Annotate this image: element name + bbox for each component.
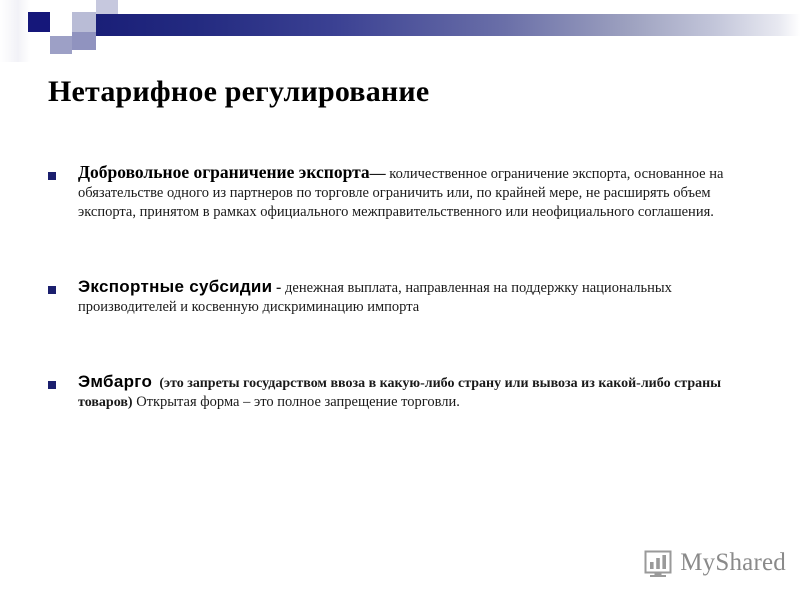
decoration-fade (0, 0, 30, 62)
list-item-term: Эмбарго (78, 372, 152, 391)
page-title: Нетарифное регулирование (48, 74, 748, 110)
list-item-term: Добровольное ограничение экспорта (78, 162, 370, 182)
list-item-term: Экспортные субсидии (78, 277, 272, 296)
watermark-label: MyShared (680, 549, 786, 577)
list-item-text: Добровольное ограничение экспорта— колич… (78, 163, 762, 222)
header-decoration (0, 0, 800, 62)
list-item: Добровольное ограничение экспорта— колич… (42, 163, 762, 222)
list-item-description: Открытая форма – это полное запрещение т… (136, 394, 460, 410)
bullet-list: Добровольное ограничение экспорта— колич… (42, 163, 762, 412)
bullet-square-icon (48, 381, 56, 389)
decoration-gradient-bar (96, 14, 800, 36)
list-item: Эмбарго (это запреты государством ввоза … (42, 372, 762, 412)
bar-chart-icon (643, 548, 673, 578)
bullet-square-icon (48, 172, 56, 180)
list-item-text: Экспортные субсидии - денежная выплата, … (78, 277, 762, 317)
decoration-square-bottom (50, 36, 72, 54)
decoration-square-light (72, 12, 96, 32)
decoration-square-dark (28, 12, 50, 32)
decoration-square-mid (72, 32, 96, 50)
decoration-square-top (96, 0, 118, 14)
bullet-square-icon (48, 286, 56, 294)
list-item-separator: — (370, 165, 386, 182)
list-item: Экспортные субсидии - денежная выплата, … (42, 277, 762, 317)
list-item-separator: - (276, 279, 281, 296)
list-item-text: Эмбарго (это запреты государством ввоза … (78, 372, 762, 412)
myshared-watermark: MyShared (643, 548, 786, 578)
